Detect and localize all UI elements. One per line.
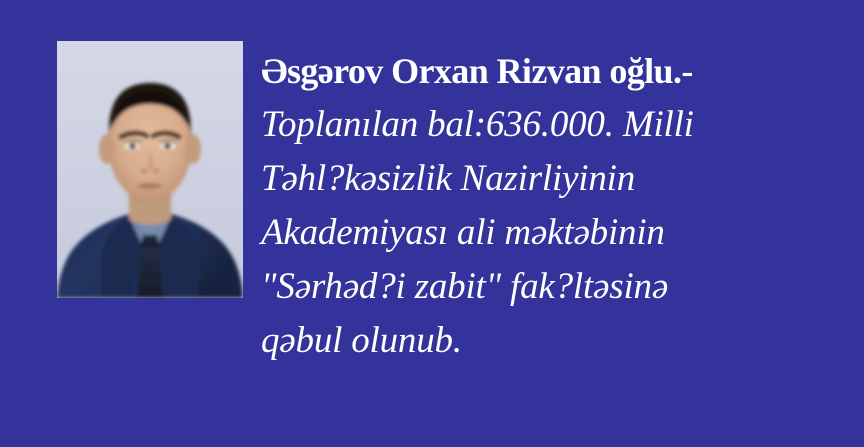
announcement-text: Əsgərov Orxan Rizvan oğlu.- Toplanılan b…: [261, 44, 864, 368]
announcement-line-3: Akademiyası ali məktəbinin: [261, 206, 864, 260]
announcement-card: Əsgərov Orxan Rizvan oğlu.- Toplanılan b…: [0, 0, 864, 447]
announcement-line-1: Toplanılan bal:636.000. Milli: [261, 98, 864, 152]
applicant-name: Əsgərov Orxan Rizvan oğlu.-: [261, 44, 864, 98]
portrait-illustration: [57, 41, 243, 298]
announcement-line-4: "Sərhəd?i zabit" fak?ltəsinə: [261, 260, 864, 314]
announcement-line-5: qəbul olunub.: [261, 314, 864, 368]
applicant-photo: [57, 41, 243, 298]
announcement-line-2: Təhl?kəsizlik Nazirliyinin: [261, 152, 864, 206]
